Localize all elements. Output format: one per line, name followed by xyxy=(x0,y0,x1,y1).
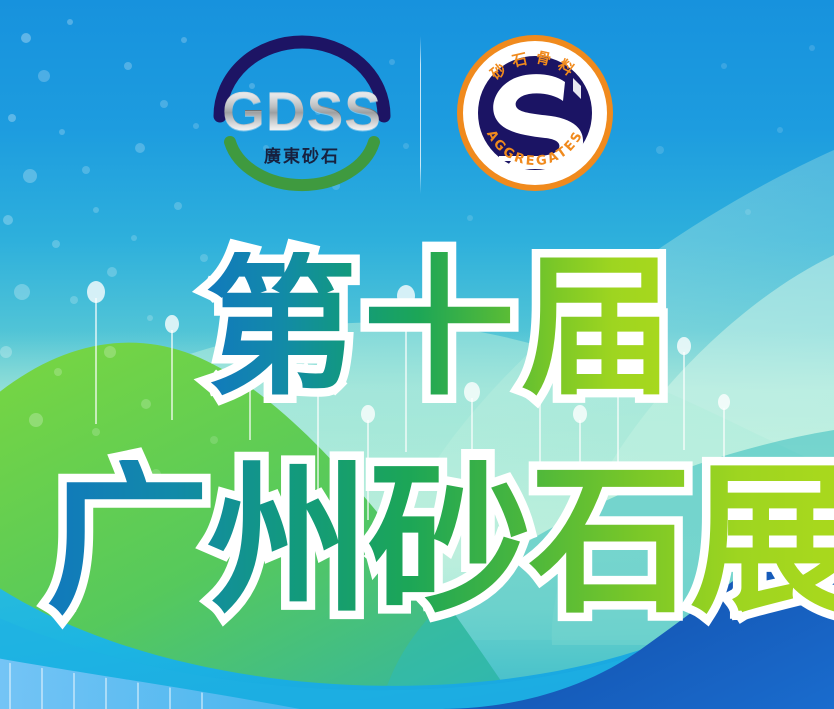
gdss-chinese-name: 廣東砂石 xyxy=(206,142,398,167)
aggregates-badge-logo[interactable]: 砂石骨料 AGGREGATES xyxy=(455,33,615,193)
badge-artwork: 砂石骨料 AGGREGATES xyxy=(455,33,615,193)
headline-line1-fill: 第十届 xyxy=(205,252,679,404)
logo-row: GDSS 廣東砂石 砂石骨料 AGGREGA xyxy=(0,0,834,215)
gdss-wordmark: GDSS xyxy=(206,84,398,139)
headline-line2-fill: 广州砂石展 xyxy=(46,460,834,623)
poster-canvas: GDSS 廣東砂石 砂石骨料 AGGREGA xyxy=(0,0,834,709)
logo-divider xyxy=(420,36,421,194)
gdss-logo[interactable]: GDSS 廣東砂石 xyxy=(206,30,398,195)
